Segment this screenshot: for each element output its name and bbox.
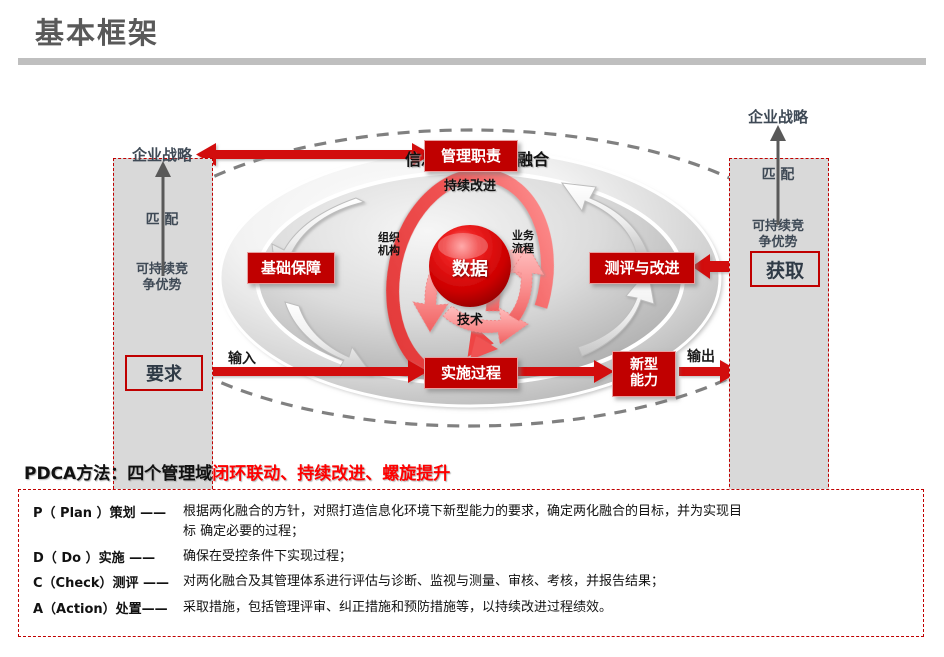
pdca-item-do: D（ Do ）实施 —— 确保在受控条件下实现过程； (33, 547, 913, 567)
pdca-item-action: A（Action）处置—— 采取措施，包括管理评审、纠正措施和预防措施等，以持续… (33, 598, 913, 618)
pdca-heading: PDCA方法：四个管理域闭环联动、持续改进、螺旋提升 (24, 459, 450, 484)
pdca-list: P（ Plan ）策划 —— 根据两化融合的方针，对照打造信息化环境下新型能力的… (33, 502, 913, 623)
title-divider (18, 58, 926, 65)
business-process-label-line2: 流程 (504, 243, 542, 255)
new-capability-line1: 新型 (630, 358, 658, 374)
acquire-box[interactable]: 获取 (750, 251, 820, 287)
requirement-box[interactable]: 要求 (125, 355, 203, 391)
pdca-item-check-key: C（Check）测评 —— (33, 572, 183, 591)
output-label: 输出 (687, 346, 715, 366)
page-title: 基本框架 (35, 10, 159, 52)
pdca-item-plan: P（ Plan ）策划 —— 根据两化融合的方针，对照打造信息化环境下新型能力的… (33, 502, 913, 542)
business-process-label-line1: 业务 (504, 230, 542, 242)
pdca-item-do-key: D（ Do ）实施 —— (33, 547, 183, 566)
new-capability-box[interactable]: 新型 能力 (612, 351, 676, 397)
pdca-item-plan-key: P（ Plan ）策划 —— (33, 502, 183, 521)
right-panel-advantage-line2: 争优势 (729, 231, 827, 250)
pdca-heading-red: 闭环联动、持续改进、螺旋提升 (212, 464, 450, 484)
left-match-arrow-icon (148, 158, 178, 278)
management-responsibility-box[interactable]: 管理职责 (424, 140, 518, 172)
pdca-item-plan-desc-line1: 根据两化融合的方针，对照打造信息化环境下新型能力的要求，确定两化融合的目标，并为… (183, 504, 742, 519)
implementation-box[interactable]: 实施过程 (424, 357, 518, 389)
organization-label-line1: 组织 (371, 232, 407, 244)
framework-diagram: 信息化和工业化融合 企业战略 匹 配 可持续竞 争优势 要求 企业战略 匹 配 … (0, 70, 944, 445)
data-center-label: 数据 (430, 255, 510, 281)
pdca-item-plan-desc-line2: 标 确定必要的过程； (183, 522, 742, 542)
technology-label: 技术 (442, 314, 498, 328)
pdca-heading-black: PDCA方法：四个管理域 (24, 464, 212, 484)
continuous-improvement-label: 持续改进 (414, 180, 526, 194)
evaluation-box[interactable]: 测评与改进 (589, 252, 695, 284)
pdca-item-check: C（Check）测评 —— 对两化融合及其管理体系进行评估与诊断、监视与测量、审… (33, 572, 913, 592)
new-capability-line2: 能力 (630, 374, 658, 390)
pdca-item-do-desc: 确保在受控条件下实现过程； (183, 547, 352, 567)
pdca-item-plan-desc: 根据两化融合的方针，对照打造信息化环境下新型能力的要求，确定两化融合的目标，并为… (183, 502, 742, 542)
pdca-item-action-desc: 采取措施，包括管理评审、纠正措施和预防措施等，以持续改进过程绩效。 (183, 598, 612, 618)
right-match-arrow-icon (763, 122, 793, 227)
pdca-item-action-key: A（Action）处置—— (33, 598, 183, 617)
pdca-item-check-desc: 对两化融合及其管理体系进行评估与诊断、监视与测量、审核、考核，并报告结果； (183, 572, 664, 592)
foundation-box[interactable]: 基础保障 (247, 252, 335, 284)
organization-label-line2: 机构 (371, 245, 407, 257)
slide-root: 基本框架 (0, 0, 944, 657)
pdca-detail-box: P（ Plan ）策划 —— 根据两化融合的方针，对照打造信息化环境下新型能力的… (18, 489, 924, 637)
input-label: 输入 (228, 348, 256, 368)
